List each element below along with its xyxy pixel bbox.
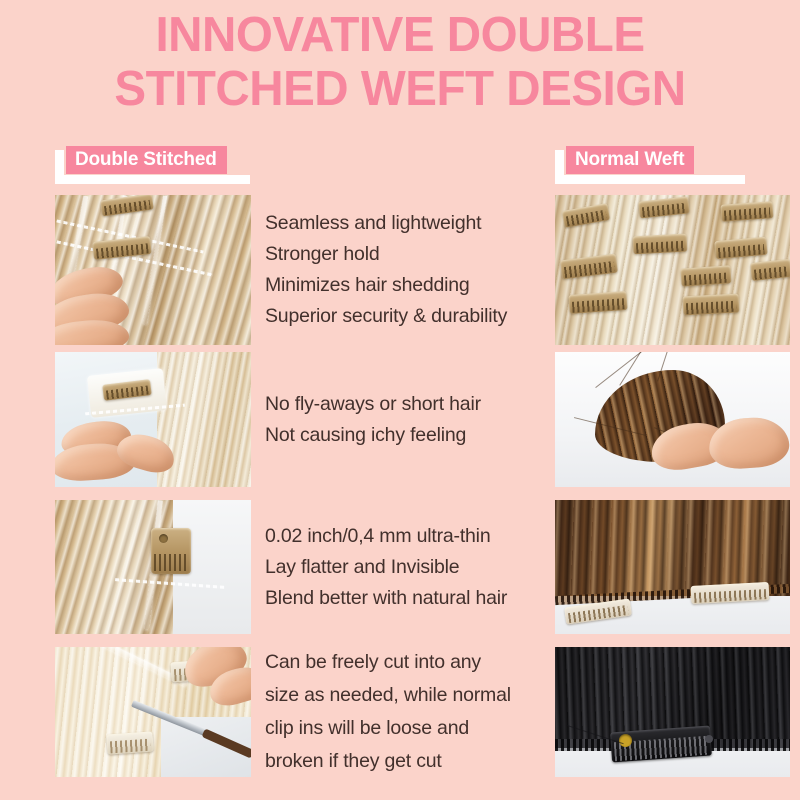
hair-clip	[720, 201, 773, 222]
benefit-line: Not causing ichy feeling	[265, 420, 550, 451]
column-label-normal-weft: Normal Weft	[566, 146, 694, 174]
benefit-line: clip ins will be loose and	[265, 712, 550, 745]
benefit-line: broken if they get cut	[265, 745, 550, 778]
hair-clip	[680, 265, 731, 286]
hair-clip	[683, 294, 740, 316]
benefit-line: Stronger hold	[265, 239, 550, 270]
benefit-line: Blend better with natural hair	[265, 583, 550, 614]
comparison-row-4: Can be freely cut into any size as neede…	[0, 647, 800, 777]
page-title: INNOVATIVE DOUBLE STITCHED WEFT DESIGN	[12, 8, 788, 116]
hair-clip	[691, 582, 770, 604]
benefit-line: Minimizes hair shedding	[265, 270, 550, 301]
photo-normal-weft-with-fly-aways	[555, 352, 790, 487]
benefit-text-block-1: Seamless and lightweight Stronger hold M…	[265, 195, 550, 345]
photo-thick-normal-weft-with-clips	[555, 500, 790, 634]
photo-black-normal-weft-clip-closeup	[555, 647, 790, 777]
photo-ultra-thin-weft-with-clip	[55, 500, 251, 634]
benefit-line: Can be freely cut into any	[265, 646, 550, 679]
benefit-line: Seamless and lightweight	[265, 208, 550, 239]
header-right-underline-bar	[555, 175, 745, 184]
column-header-normal-weft: Normal Weft	[555, 146, 745, 184]
photo-cutting-weft-with-scissors	[55, 647, 251, 777]
clip-rivet	[705, 735, 713, 743]
header-left-underline-bar	[55, 175, 250, 184]
benefit-line: 0.02 inch/0,4 mm ultra-thin	[265, 521, 550, 552]
benefit-line: No fly-aways or short hair	[265, 389, 550, 420]
hair-clip	[568, 291, 627, 314]
column-header-double-stitched: Double Stitched	[55, 146, 250, 184]
clip-rivet	[159, 534, 168, 543]
hair-clip	[151, 528, 191, 574]
comparison-row-2: No fly-aways or short hair Not causing i…	[0, 352, 800, 487]
benefit-line: Superior security & durability	[265, 301, 550, 332]
benefit-line: size as needed, while normal	[265, 679, 550, 712]
photo-double-stitched-weft-peeled-back	[55, 352, 251, 487]
comparison-row-3: 0.02 inch/0,4 mm ultra-thin Lay flatter …	[0, 500, 800, 634]
column-label-double-stitched: Double Stitched	[66, 146, 227, 174]
benefit-line: Lay flatter and Invisible	[265, 552, 550, 583]
benefit-text-block-4: Can be freely cut into any size as neede…	[265, 647, 550, 777]
benefit-text-block-2: No fly-aways or short hair Not causing i…	[265, 352, 550, 487]
infographic-page: INNOVATIVE DOUBLE STITCHED WEFT DESIGN D…	[0, 0, 800, 800]
hair-clip	[633, 234, 688, 255]
benefit-text-block-3: 0.02 inch/0,4 mm ultra-thin Lay flatter …	[265, 500, 550, 634]
comparison-row-1: Seamless and lightweight Stronger hold M…	[0, 195, 800, 345]
clip-rivet	[619, 734, 632, 747]
photo-normal-weft-clip-ins-stacked	[555, 195, 790, 345]
photo-double-stitched-weft-held-in-hand	[55, 195, 251, 345]
hair-clip	[106, 731, 153, 754]
